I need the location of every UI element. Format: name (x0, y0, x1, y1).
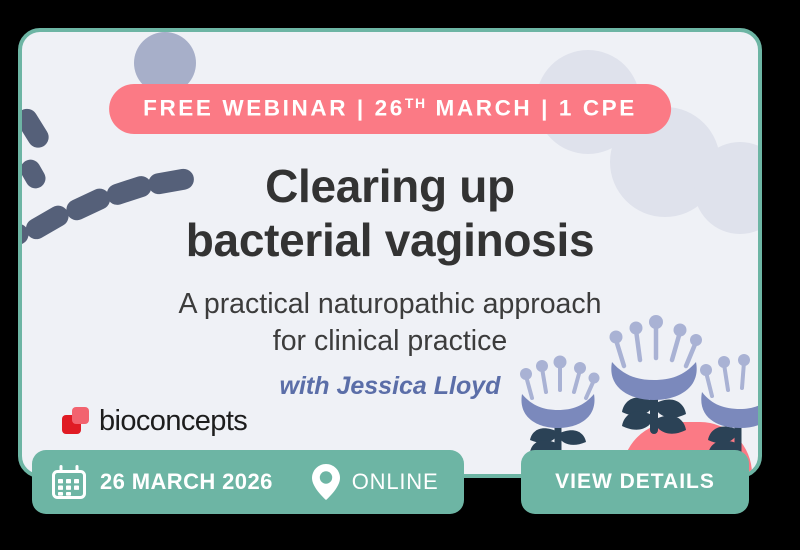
calendar-icon (50, 463, 88, 501)
webinar-badge: FREE WEBINAR | 26TH MARCH | 1 CPE (109, 84, 671, 134)
page-title: Clearing up bacterial vaginosis (22, 160, 758, 268)
badge-ordinal-suffix: TH (405, 95, 427, 111)
page-title-line1: Clearing up (22, 160, 758, 214)
presenter-name: with Jessica Lloyd (22, 372, 758, 401)
page-subtitle-line2: for clinical practice (22, 323, 758, 360)
page-title-line2: bacterial vaginosis (22, 214, 758, 268)
webinar-card: FREE WEBINAR | 26TH MARCH | 1 CPE Cleari… (18, 28, 762, 478)
event-location-text: ONLINE (352, 469, 439, 495)
view-details-label: VIEW DETAILS (555, 470, 715, 494)
event-date-text: 26 MARCH 2026 (100, 469, 273, 495)
promo-banner-stage: FREE WEBINAR | 26TH MARCH | 1 CPE Cleari… (0, 0, 800, 550)
event-info-bar: 26 MARCH 2026 ONLINE (32, 450, 464, 514)
page-subtitle: A practical naturopathic approach for cl… (22, 286, 758, 360)
map-pin-icon (311, 463, 341, 501)
view-details-button[interactable]: VIEW DETAILS (521, 450, 749, 514)
bioconcepts-logo-mark-icon (62, 407, 92, 437)
badge-prefix: FREE WEBINAR | 26 (143, 96, 405, 121)
bioconcepts-logo-text: bioconcepts (99, 405, 247, 438)
bioconcepts-logo: bioconcepts (62, 405, 247, 438)
badge-suffix: MARCH | 1 CPE (427, 96, 637, 121)
page-subtitle-line1: A practical naturopathic approach (22, 286, 758, 323)
